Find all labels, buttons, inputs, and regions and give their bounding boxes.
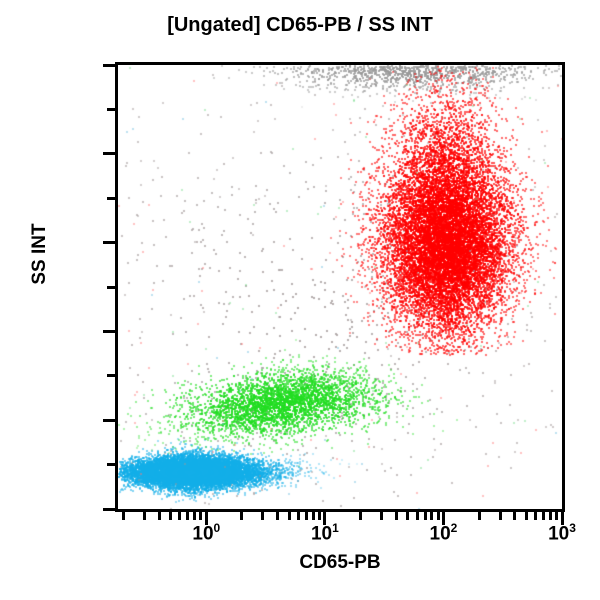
- x-tick-minor: [240, 512, 243, 520]
- y-tick-major: [103, 152, 115, 155]
- x-tick-minor: [318, 512, 321, 520]
- y-tick-major: [103, 330, 115, 333]
- y-tick-minor: [107, 286, 115, 289]
- x-tick-minor: [513, 512, 516, 520]
- x-tick-minor: [122, 512, 125, 520]
- x-tick-minor: [549, 512, 552, 520]
- x-tick-minor: [430, 512, 433, 520]
- page-title: [Ungated] CD65-PB / SS INT: [0, 14, 600, 37]
- x-tick-minor: [406, 512, 409, 520]
- x-tick-minor: [143, 512, 146, 520]
- scatter-dot-canvas: [118, 65, 562, 509]
- x-tick-minor: [186, 512, 189, 520]
- x-tick-minor: [288, 512, 291, 520]
- x-tick-minor: [199, 512, 202, 520]
- x-tick-label: 100: [156, 521, 256, 545]
- x-tick-minor: [525, 512, 528, 520]
- y-tick-major: [103, 241, 115, 244]
- x-tick-minor: [261, 512, 264, 520]
- x-tick-minor: [297, 512, 300, 520]
- x-tick-minor: [169, 512, 172, 520]
- x-tick-minor: [534, 512, 537, 520]
- x-tick-minor: [178, 512, 181, 520]
- x-tick-minor: [555, 512, 558, 520]
- y-tick-minor: [107, 108, 115, 111]
- y-tick-minor: [107, 197, 115, 200]
- plot-area: [115, 62, 565, 512]
- x-tick-minor: [158, 512, 161, 520]
- x-axis-label: CD65-PB: [115, 552, 565, 574]
- x-tick-label: 103: [512, 521, 600, 545]
- flow-cytometry-dot-plot: [Ungated] CD65-PB / SS INT SS INT 020040…: [0, 0, 600, 600]
- x-tick-minor: [424, 512, 427, 520]
- y-axis-label: SS INT: [29, 154, 51, 354]
- x-tick-minor: [499, 512, 502, 520]
- x-tick-minor: [478, 512, 481, 520]
- x-tick-minor: [276, 512, 279, 520]
- x-tick-minor: [305, 512, 308, 520]
- x-tick-label: 101: [275, 521, 375, 545]
- y-tick-major: [103, 64, 115, 67]
- y-tick-major: [103, 508, 115, 511]
- x-tick-minor: [437, 512, 440, 520]
- x-tick-minor: [416, 512, 419, 520]
- x-tick-minor: [193, 512, 196, 520]
- x-tick-minor: [380, 512, 383, 520]
- y-tick-minor: [107, 374, 115, 377]
- y-tick-major: [103, 419, 115, 422]
- y-tick-minor: [107, 463, 115, 466]
- x-tick-minor: [395, 512, 398, 520]
- x-tick-minor: [542, 512, 545, 520]
- x-tick-minor: [359, 512, 362, 520]
- x-tick-label: 102: [393, 521, 493, 545]
- x-tick-minor: [312, 512, 315, 520]
